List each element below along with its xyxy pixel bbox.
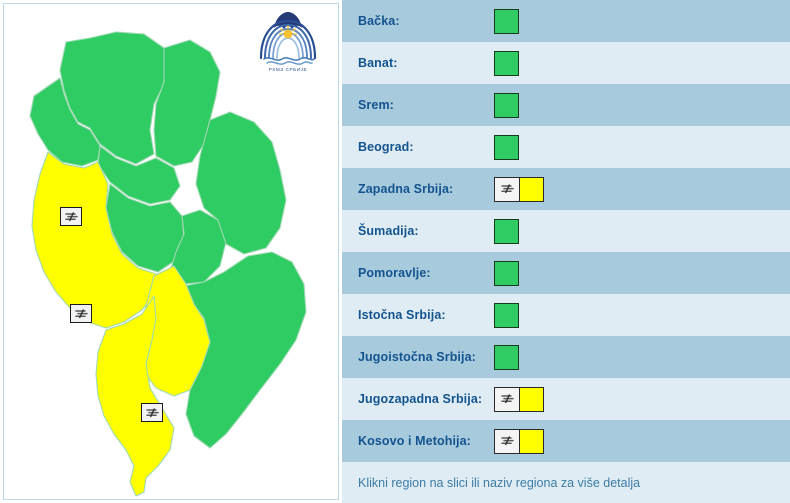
- region-row[interactable]: Jugozapadna Srbija:: [342, 378, 790, 420]
- map-fog-marker-zapadna-srbija[interactable]: [60, 207, 82, 226]
- region-label[interactable]: Banat:: [342, 56, 494, 70]
- region-warning-icons: [494, 420, 544, 462]
- region-list-panel: Bačka:Banat:Srem:Beograd:Zapadna Srbija:…: [339, 0, 790, 503]
- region-label[interactable]: Beograd:: [342, 140, 494, 154]
- fog-icon: [145, 407, 160, 419]
- map-stage: РХМЗ СРБИЈЕ: [4, 4, 338, 499]
- fog-icon-box: [494, 177, 519, 202]
- map-fog-marker-jugozapadna-srbija[interactable]: [70, 304, 92, 323]
- region-warning-icons: [494, 336, 519, 378]
- region-label[interactable]: Kosovo i Metohija:: [342, 434, 494, 448]
- region-row[interactable]: Pomoravlje:: [342, 252, 790, 294]
- region-label[interactable]: Srem:: [342, 98, 494, 112]
- region-warning-icons: [494, 0, 519, 42]
- warning-level-swatch-green: [494, 219, 519, 244]
- region-warning-icons: [494, 168, 544, 210]
- fog-icon: [64, 211, 79, 223]
- region-label[interactable]: Jugozapadna Srbija:: [342, 392, 494, 406]
- region-row[interactable]: Beograd:: [342, 126, 790, 168]
- warning-level-swatch-yellow: [519, 177, 544, 202]
- warning-level-swatch-green: [494, 345, 519, 370]
- warning-level-swatch-yellow: [519, 387, 544, 412]
- region-label[interactable]: Šumadija:: [342, 224, 494, 238]
- region-warning-icons: [494, 126, 519, 168]
- warning-level-swatch-green: [494, 51, 519, 76]
- region-row[interactable]: Srem:: [342, 84, 790, 126]
- map-fog-marker-kosovo-i-metohija[interactable]: [141, 403, 163, 422]
- warning-level-swatch-green: [494, 93, 519, 118]
- region-warning-icons: [494, 210, 519, 252]
- fog-icon: [74, 308, 89, 320]
- fog-icon-box: [494, 387, 519, 412]
- rhmz-logo-caption: РХМЗ СРБИЈЕ: [269, 67, 307, 72]
- warning-level-swatch-green: [494, 261, 519, 286]
- warning-level-swatch-yellow: [519, 429, 544, 454]
- warning-level-swatch-green: [494, 9, 519, 34]
- serbia-region-map[interactable]: [4, 4, 338, 499]
- region-warning-icons: [494, 378, 544, 420]
- fog-icon: [500, 183, 515, 195]
- warning-level-swatch-green: [494, 135, 519, 160]
- region-label[interactable]: Zapadna Srbija:: [342, 182, 494, 196]
- region-row[interactable]: Istočna Srbija:: [342, 294, 790, 336]
- region-warning-icons: [494, 252, 519, 294]
- weather-warning-page: РХМЗ СРБИЈЕ: [0, 0, 790, 503]
- region-row[interactable]: Kosovo i Metohija:: [342, 420, 790, 462]
- fog-icon-box: [494, 429, 519, 454]
- region-warning-icons: [494, 42, 519, 84]
- region-rows: Bačka:Banat:Srem:Beograd:Zapadna Srbija:…: [342, 0, 790, 462]
- warning-level-swatch-green: [494, 303, 519, 328]
- fog-icon: [500, 435, 515, 447]
- region-row[interactable]: Zapadna Srbija:: [342, 168, 790, 210]
- map-panel: РХМЗ СРБИЈЕ: [3, 3, 339, 500]
- fog-icon: [500, 393, 515, 405]
- region-row[interactable]: Banat:: [342, 42, 790, 84]
- footer-hint-text: Klikni region na slici ili naziv regiona…: [342, 476, 640, 490]
- region-warning-icons: [494, 84, 519, 126]
- region-label[interactable]: Istočna Srbija:: [342, 308, 494, 322]
- rhmz-logo: РХМЗ СРБИЈЕ: [256, 8, 320, 74]
- region-row[interactable]: Bačka:: [342, 0, 790, 42]
- region-row[interactable]: Šumadija:: [342, 210, 790, 252]
- region-warning-icons: [494, 294, 519, 336]
- region-label[interactable]: Bačka:: [342, 14, 494, 28]
- region-row[interactable]: Jugoistočna Srbija:: [342, 336, 790, 378]
- region-label[interactable]: Pomoravlje:: [342, 266, 494, 280]
- region-label[interactable]: Jugoistočna Srbija:: [342, 350, 494, 364]
- list-footer: Klikni region na slici ili naziv regiona…: [342, 462, 790, 503]
